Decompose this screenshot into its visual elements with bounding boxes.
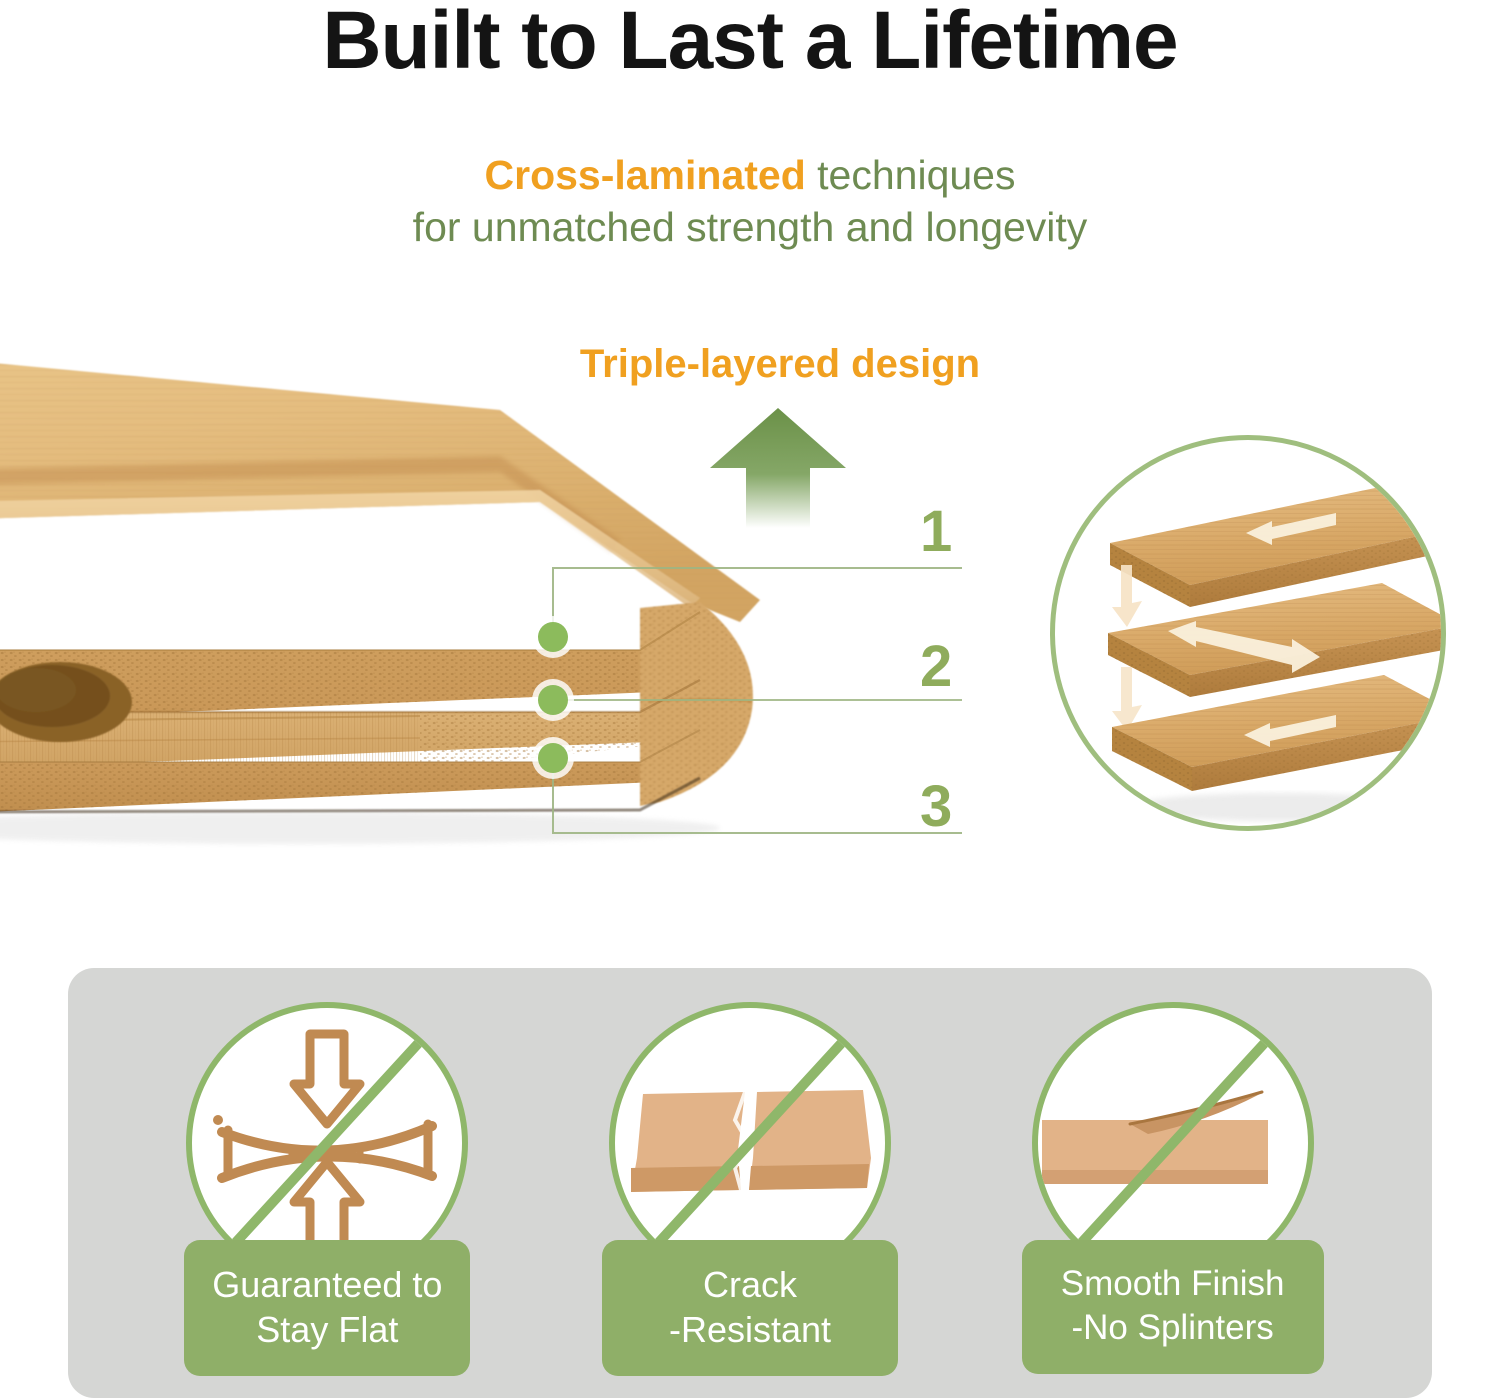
feature-label-1: Guaranteed to Stay Flat (184, 1240, 470, 1376)
feature-crack-resistant[interactable]: Crack -Resistant (600, 968, 900, 1368)
subheadline-line-1: Cross-laminated techniques (0, 146, 1500, 204)
feature-label-2: Crack -Resistant (602, 1240, 898, 1376)
subheadline-rest: techniques (806, 152, 1016, 198)
layer-marker-dot-3 (538, 743, 568, 773)
layer-callouts: 1 2 3 (0, 350, 1020, 850)
feature-guaranteed-to-stay-flat[interactable]: Guaranteed to Stay Flat (177, 968, 477, 1368)
layer-marker-dot-1 (538, 622, 568, 652)
features-row: Guaranteed to Stay Flat Crack -Resistant (68, 968, 1432, 1398)
layer-number-3: 3 (920, 778, 952, 836)
layer-number-1: 1 (920, 503, 952, 561)
page-title: Built to Last a Lifetime (0, 0, 1500, 86)
layer-marker-dot-2 (538, 685, 568, 715)
subheadline-accent: Cross-laminated (485, 152, 806, 198)
feature-label-3: Smooth Finish -No Splinters (1022, 1240, 1324, 1374)
three-bamboo-layers-exploded-icon (1050, 435, 1446, 831)
feature-smooth-finish-no-splinters[interactable]: Smooth Finish -No Splinters (1023, 968, 1323, 1368)
layer-number-2: 2 (920, 638, 952, 696)
subheadline-line-2: for unmatched strength and longevity (0, 198, 1500, 256)
